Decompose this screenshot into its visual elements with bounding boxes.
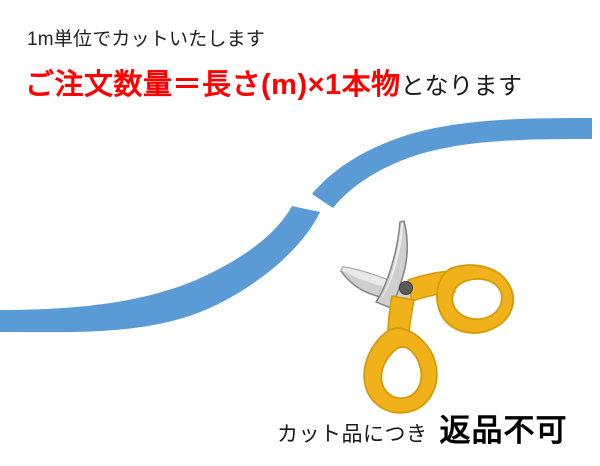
scissors-pivot-icon (400, 282, 413, 295)
headline-formula-suffix: となります (401, 73, 523, 100)
ribbon-upper-right-segment (312, 118, 592, 208)
headline-line-1: 1m単位でカットいたします (27, 30, 265, 49)
scissors-handle-lower (364, 328, 437, 413)
scissors-handle-upper-right (437, 265, 513, 333)
poster-canvas: 1m単位でカットいたします ご注文数量＝長さ(m)×1本物となります カット品に… (0, 0, 600, 466)
ribbon-lower-left-segment (0, 206, 320, 332)
footer-note-emphasis: 返品不可 (440, 413, 568, 448)
headline-formula-red: ご注文数量＝長さ(m)×1本物 (25, 69, 401, 101)
footer-note-prefix: カット品につき (277, 423, 428, 446)
yellow-handled-scissors (341, 221, 513, 413)
footer-note: カット品につき返品不可 (277, 415, 568, 448)
headline-line-2: ご注文数量＝長さ(m)×1本物となります (25, 70, 522, 100)
